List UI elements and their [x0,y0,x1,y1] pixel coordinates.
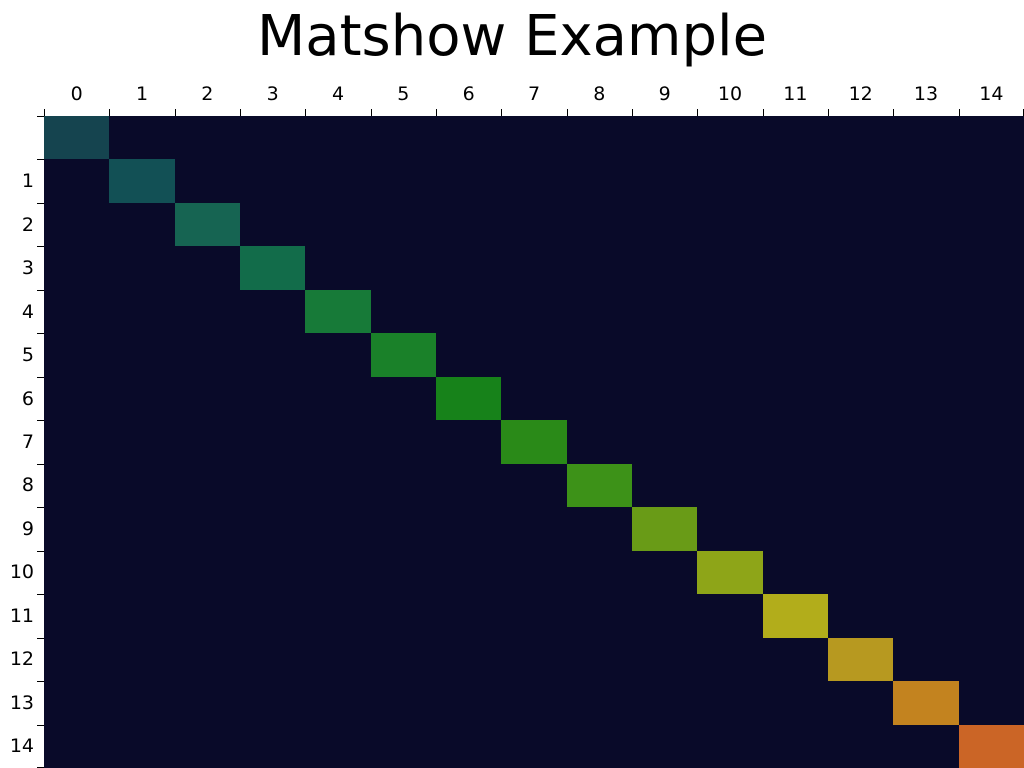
matrix-cell [893,290,958,333]
matrix-cell [959,116,1024,159]
matrix-cell [828,377,893,420]
matrix-cell [501,203,566,246]
x-tick-mark [697,109,698,116]
matrix-cell [305,116,370,159]
y-tick-label: 6 [22,388,34,410]
matrix-cell [371,290,436,333]
matrix-cell [371,551,436,594]
y-tick-mark [37,681,44,682]
matrix-cell [632,246,697,289]
matrix-cell [959,333,1024,376]
matrix-cell [175,464,240,507]
matrix-cell [893,333,958,376]
y-tick-mark [37,203,44,204]
matrix-cell [240,333,305,376]
matrix-cell [44,681,109,724]
matrix-cell [893,203,958,246]
matrix-cell [632,159,697,202]
matrix-cell [632,377,697,420]
matrix-cell [436,159,501,202]
matrix-cell [828,203,893,246]
matrix-cell [697,246,762,289]
matrix-cell [893,377,958,420]
matrix-cell [959,681,1024,724]
matrix-cell [371,116,436,159]
x-tick-label: 5 [397,83,409,105]
matrix-cell [240,420,305,463]
x-tick-label: 4 [332,83,344,105]
matrix-cell [828,290,893,333]
y-tick-mark [37,290,44,291]
y-tick-label-group: 1234567891011121314 [0,0,34,768]
matrix-cell [109,290,174,333]
matrix-cell [697,681,762,724]
matrix-cell [501,159,566,202]
x-tick-label: 2 [201,83,213,105]
y-tick-mark [37,551,44,552]
y-tick-mark [37,725,44,726]
matrix-cell [109,246,174,289]
matrix-cell [567,377,632,420]
x-tick-mark [175,109,176,116]
x-tick-mark [109,109,110,116]
matrix-cell [109,420,174,463]
x-tick-label: 9 [659,83,671,105]
matrix-cell [567,681,632,724]
x-tick-mark [371,109,372,116]
matrix-cell [44,638,109,681]
matrix-cell [305,507,370,550]
matrix-cell [436,464,501,507]
matrix-cell [632,681,697,724]
matrix-cell [567,246,632,289]
matrix-cell [240,159,305,202]
page-title: Matshow Example [0,2,1024,72]
matrix-cell [893,507,958,550]
matrix-cell [175,725,240,768]
matrix-cell [436,725,501,768]
matrix-cell [959,507,1024,550]
x-tick-mark [501,109,502,116]
matrix-cell [501,464,566,507]
matrix-cell [501,725,566,768]
y-tick-label: 5 [22,344,34,366]
matrix-cell [305,290,370,333]
matrix-cell [501,594,566,637]
matrix-cell [44,246,109,289]
matrix-cell [501,116,566,159]
matrix-cell [44,159,109,202]
matrix-cell [763,290,828,333]
matrix-cell [632,290,697,333]
matrix-cell [959,377,1024,420]
matrix-cell [175,246,240,289]
matrix-cell [763,725,828,768]
matrix-cell [697,333,762,376]
matrix-cell [567,507,632,550]
y-tick-label: 7 [22,431,34,453]
matrix-cell [893,681,958,724]
matrix-cell [44,377,109,420]
matrix-cell [109,551,174,594]
matrix-cell [109,333,174,376]
matrix-cell [567,159,632,202]
matrix-cell [697,420,762,463]
matrix-cell [763,203,828,246]
matrix-cell [763,638,828,681]
x-tick-label: 7 [528,83,540,105]
matrix-cell [959,420,1024,463]
matrix-cell [632,116,697,159]
matrix-cell [763,116,828,159]
x-tick-label: 11 [783,83,807,105]
matrix-cell [697,725,762,768]
matrix-cell [371,203,436,246]
matrix-cell [175,420,240,463]
matrix-cell [240,464,305,507]
matrix-cell [240,594,305,637]
matrix-cell [632,333,697,376]
matrix-cell [501,333,566,376]
matrix-cell [109,638,174,681]
matrix-cell [305,725,370,768]
matrix-cell [959,551,1024,594]
matrix-cell [893,638,958,681]
matrix-cell [436,290,501,333]
matrix-cell [632,638,697,681]
matrix-cell [828,681,893,724]
matrix-cell [959,159,1024,202]
y-tick-mark [37,246,44,247]
x-tick-mark [959,109,960,116]
matrix-cell [501,638,566,681]
matrix-cell [632,203,697,246]
matrix-cell [44,290,109,333]
matrix-cell [44,333,109,376]
matrix-cell [436,377,501,420]
y-tick-mark [37,507,44,508]
matrix-cell [436,507,501,550]
matrix-cell [305,159,370,202]
matrix-cell [305,246,370,289]
matrix-cell [240,725,305,768]
matrix-cell [828,246,893,289]
matrix-cell [828,116,893,159]
matrix-cell [240,377,305,420]
matrix-cell [893,116,958,159]
matrix-cell [175,203,240,246]
matrix-cell [567,638,632,681]
matrix-cell [371,333,436,376]
matrix-cell [959,203,1024,246]
y-tick-label: 8 [22,474,34,496]
y-tick-label: 4 [22,301,34,323]
matrix-cell [436,594,501,637]
matrix-cell [959,290,1024,333]
x-tick-mark [828,109,829,116]
matrix-cell [109,116,174,159]
matrix-cell [567,116,632,159]
matrix-cell [175,290,240,333]
matrix-cell [763,377,828,420]
matrix-cell [371,638,436,681]
matrix-cell [763,420,828,463]
matrix-cell [697,594,762,637]
matrix-cell [632,725,697,768]
y-tick-label: 12 [10,648,34,670]
matrix-cell [828,159,893,202]
matrix-cell [632,551,697,594]
matrix-cell [44,203,109,246]
matrix-cell [371,464,436,507]
matrix-cell [828,638,893,681]
matrix-cell [175,681,240,724]
matrix-cell [44,116,109,159]
matrix-cell [44,420,109,463]
matrix-cell [632,420,697,463]
y-tick-mark [37,464,44,465]
matrix-cell [44,551,109,594]
matrix-cell [567,203,632,246]
matrix-cell [371,507,436,550]
x-tick-label: 0 [71,83,83,105]
matrix-cell [436,246,501,289]
x-tick-mark [763,109,764,116]
matrix-cell [697,290,762,333]
x-tick-label: 12 [849,83,873,105]
y-tick-mark [37,638,44,639]
matrix-cell [893,594,958,637]
matrix-cell [763,551,828,594]
matrix-cell [109,464,174,507]
matrix-cell [632,464,697,507]
matrix-cell [501,507,566,550]
matrix-cell [305,638,370,681]
matrix-cell [305,681,370,724]
matrix-cell [828,507,893,550]
matrix-cell [305,551,370,594]
matrix-cell [371,246,436,289]
y-tick-label: 3 [22,257,34,279]
matrix-cell [44,507,109,550]
matrix-cell [109,203,174,246]
matrix-cell [109,681,174,724]
matrix-cell [763,507,828,550]
y-tick-mark [37,377,44,378]
y-tick-mark [37,594,44,595]
matrix-cell [240,638,305,681]
x-tick-label: 1 [136,83,148,105]
x-tick-mark [893,109,894,116]
matrix-cell [763,464,828,507]
y-tick-label: 14 [10,735,34,757]
matrix-cell [436,420,501,463]
y-tick-label: 9 [22,518,34,540]
matrix-cell [501,377,566,420]
matrix-cell [109,594,174,637]
matrix-cell [893,420,958,463]
matrix-cell [175,638,240,681]
x-tick-label: 10 [718,83,742,105]
matrix-cell [959,638,1024,681]
matrix-cell [436,203,501,246]
matrix-cell [501,681,566,724]
matrix-cell [305,377,370,420]
y-tick-label: 13 [10,692,34,714]
matrix-cell [501,246,566,289]
x-tick-label: 14 [979,83,1003,105]
x-tick-mark [240,109,241,116]
matrix-cell [44,594,109,637]
matrix-cell [175,333,240,376]
y-tick-label: 2 [22,214,34,236]
x-tick-label: 13 [914,83,938,105]
x-tick-label: 6 [463,83,475,105]
matrix-cell [501,551,566,594]
matrix-cell [959,246,1024,289]
y-tick-mark [37,159,44,160]
y-tick-label: 10 [10,561,34,583]
matrix-cell [893,725,958,768]
matrix-cell [763,594,828,637]
matrix-cell [371,159,436,202]
y-tick-label: 11 [10,605,34,627]
matrix-cell [240,290,305,333]
matrix-cell [697,116,762,159]
matrix-cell [567,594,632,637]
matrix-cell [828,551,893,594]
matrix-cell [763,333,828,376]
matrix-cell [371,420,436,463]
x-tick-label: 8 [593,83,605,105]
matrix-cell [697,203,762,246]
y-tick-label: 1 [22,170,34,192]
matrix-cell [893,551,958,594]
matrix-cell [893,246,958,289]
matrix-cell [240,203,305,246]
matrix-cell [632,594,697,637]
matrix-cell [763,681,828,724]
matrix-cell [959,725,1024,768]
matrix-cell [697,464,762,507]
matrix-cell [763,159,828,202]
matrix-cell [175,594,240,637]
matrix-cell [893,464,958,507]
matrix-cell [305,203,370,246]
matrix-cell [109,159,174,202]
matrix-cell [567,333,632,376]
matrix-cell [501,420,566,463]
matrix-cell [240,116,305,159]
matrix-cell [436,638,501,681]
matrix-cell [828,594,893,637]
matrix-cell [828,725,893,768]
matrix-cell [175,116,240,159]
matrix-cell [371,594,436,637]
matrix-cell [175,551,240,594]
matrix-cell [567,290,632,333]
matrix-cell [501,290,566,333]
matrix-cell [371,377,436,420]
matrix-cell [305,333,370,376]
matrix-cell [175,507,240,550]
matrix-cell [371,681,436,724]
matrix-cell [109,377,174,420]
matrix-cell [305,594,370,637]
matrix-cell [828,464,893,507]
x-tick-mark [436,109,437,116]
matrix-cell [828,333,893,376]
matrix-cell [697,551,762,594]
matrix-cell [436,116,501,159]
x-tick-label: 3 [267,83,279,105]
matrix-cell [305,464,370,507]
matrix-cell [109,507,174,550]
matrix-cell [240,551,305,594]
y-tick-mark [37,116,44,117]
matrix-cell [893,159,958,202]
x-tick-mark [632,109,633,116]
y-tick-mark [37,333,44,334]
matrix-cell [959,594,1024,637]
matrix-cell [371,725,436,768]
matrix-cell [697,377,762,420]
matrix-cell [175,377,240,420]
matrix-cell [436,551,501,594]
x-tick-mark [44,109,45,116]
matrix-cell [567,725,632,768]
matrix-cell [44,464,109,507]
matrix-cell [567,420,632,463]
matrix-cell [959,464,1024,507]
matrix-cell [697,507,762,550]
matrix-cell [175,159,240,202]
matrix-cell [305,420,370,463]
matrix-cell [567,551,632,594]
matrix-cell [109,725,174,768]
x-tick-mark [305,109,306,116]
matplotlib-figure: Matshow Example 01234567891011121314 123… [0,0,1024,768]
matshow-plot-area [44,116,1024,768]
matrix-cell [567,464,632,507]
matrix-cell [436,333,501,376]
matrix-cell [763,246,828,289]
matrix-cell [697,159,762,202]
matrix-cell [240,246,305,289]
x-tick-mark [567,109,568,116]
matrix-cell [828,420,893,463]
matrix-cell [436,681,501,724]
matrix-cell [697,638,762,681]
matrix-cell [632,507,697,550]
matrix-cell [240,681,305,724]
y-tick-mark [37,420,44,421]
matrix-cell [44,725,109,768]
matrix-grid [44,116,1024,768]
matrix-cell [240,507,305,550]
